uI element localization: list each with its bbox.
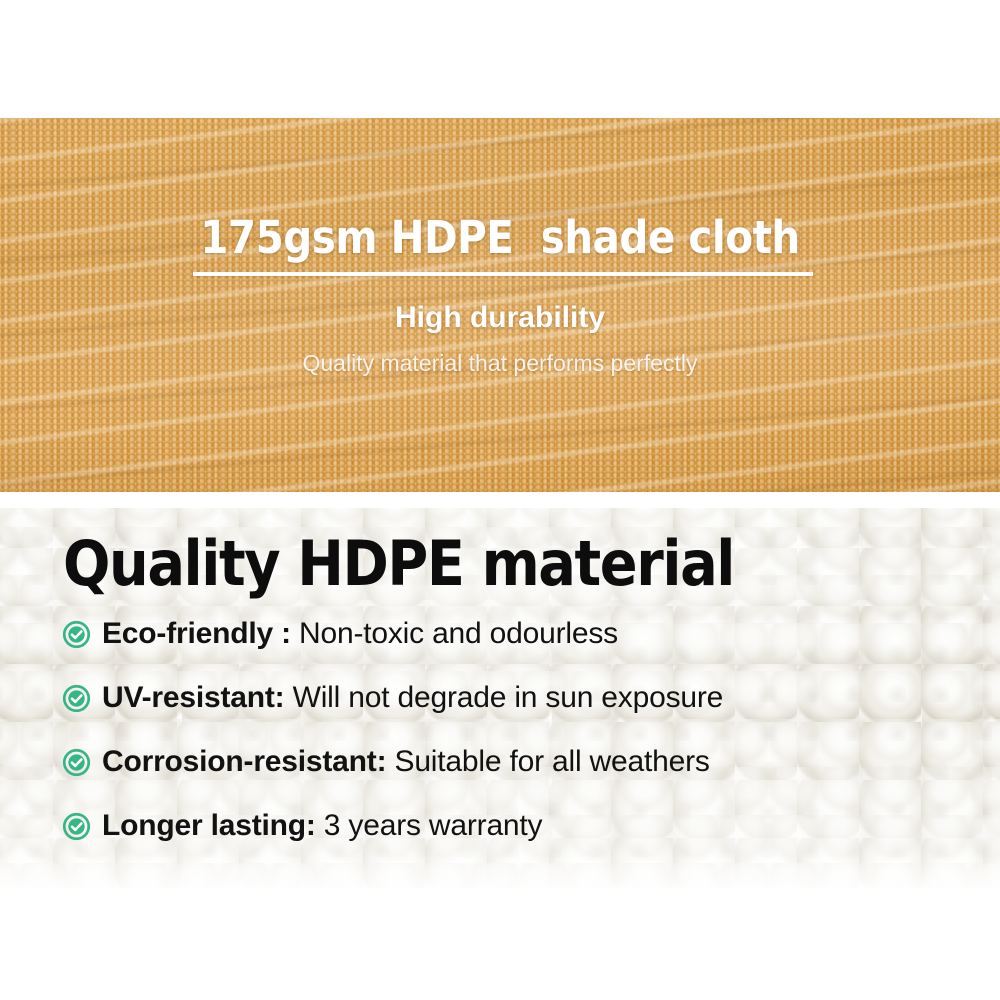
- hdpe-material-panel: Quality HDPE material Eco-friendly : Non…: [0, 508, 1000, 888]
- subheading: High durability: [0, 301, 1000, 335]
- headline-divider: [193, 272, 813, 276]
- feature-detail: Non-toxic and odourless: [291, 617, 618, 650]
- feature-text: Eco-friendly : Non-toxic and odourless: [102, 617, 618, 651]
- feature-label: Longer lasting:: [102, 809, 316, 842]
- feature-list: Eco-friendly : Non-toxic and odourless U…: [62, 612, 962, 868]
- caption: Quality material that performs perfectly: [0, 350, 1000, 377]
- product-infographic: 175gsm HDPE shade cloth High durability …: [0, 0, 1000, 1000]
- feature-detail: 3 years warranty: [316, 809, 543, 842]
- page-title: Quality HDPE material: [63, 533, 734, 595]
- check-circle-icon: [62, 812, 91, 841]
- headline: 175gsm HDPE shade cloth: [0, 211, 1000, 264]
- feature-text: UV-resistant: Will not degrade in sun ex…: [102, 681, 723, 715]
- list-item: Eco-friendly : Non-toxic and odourless: [62, 612, 962, 656]
- check-circle-icon: [62, 620, 91, 649]
- feature-label: Eco-friendly :: [102, 617, 291, 650]
- feature-text: Longer lasting: 3 years warranty: [102, 809, 542, 843]
- feature-label: Corrosion-resistant:: [102, 745, 386, 778]
- check-circle-icon: [62, 748, 91, 777]
- feature-text: Corrosion-resistant: Suitable for all we…: [102, 745, 710, 779]
- feature-detail: Will not degrade in sun exposure: [284, 681, 723, 714]
- list-item: Corrosion-resistant: Suitable for all we…: [62, 740, 962, 784]
- list-item: UV-resistant: Will not degrade in sun ex…: [62, 676, 962, 720]
- hdpe-content: Quality HDPE material Eco-friendly : Non…: [0, 508, 1000, 888]
- check-circle-icon: [62, 684, 91, 713]
- shade-cloth-panel: 175gsm HDPE shade cloth High durability …: [0, 118, 1000, 492]
- feature-label: UV-resistant:: [102, 681, 284, 714]
- list-item: Longer lasting: 3 years warranty: [62, 804, 962, 848]
- feature-detail: Suitable for all weathers: [386, 745, 709, 778]
